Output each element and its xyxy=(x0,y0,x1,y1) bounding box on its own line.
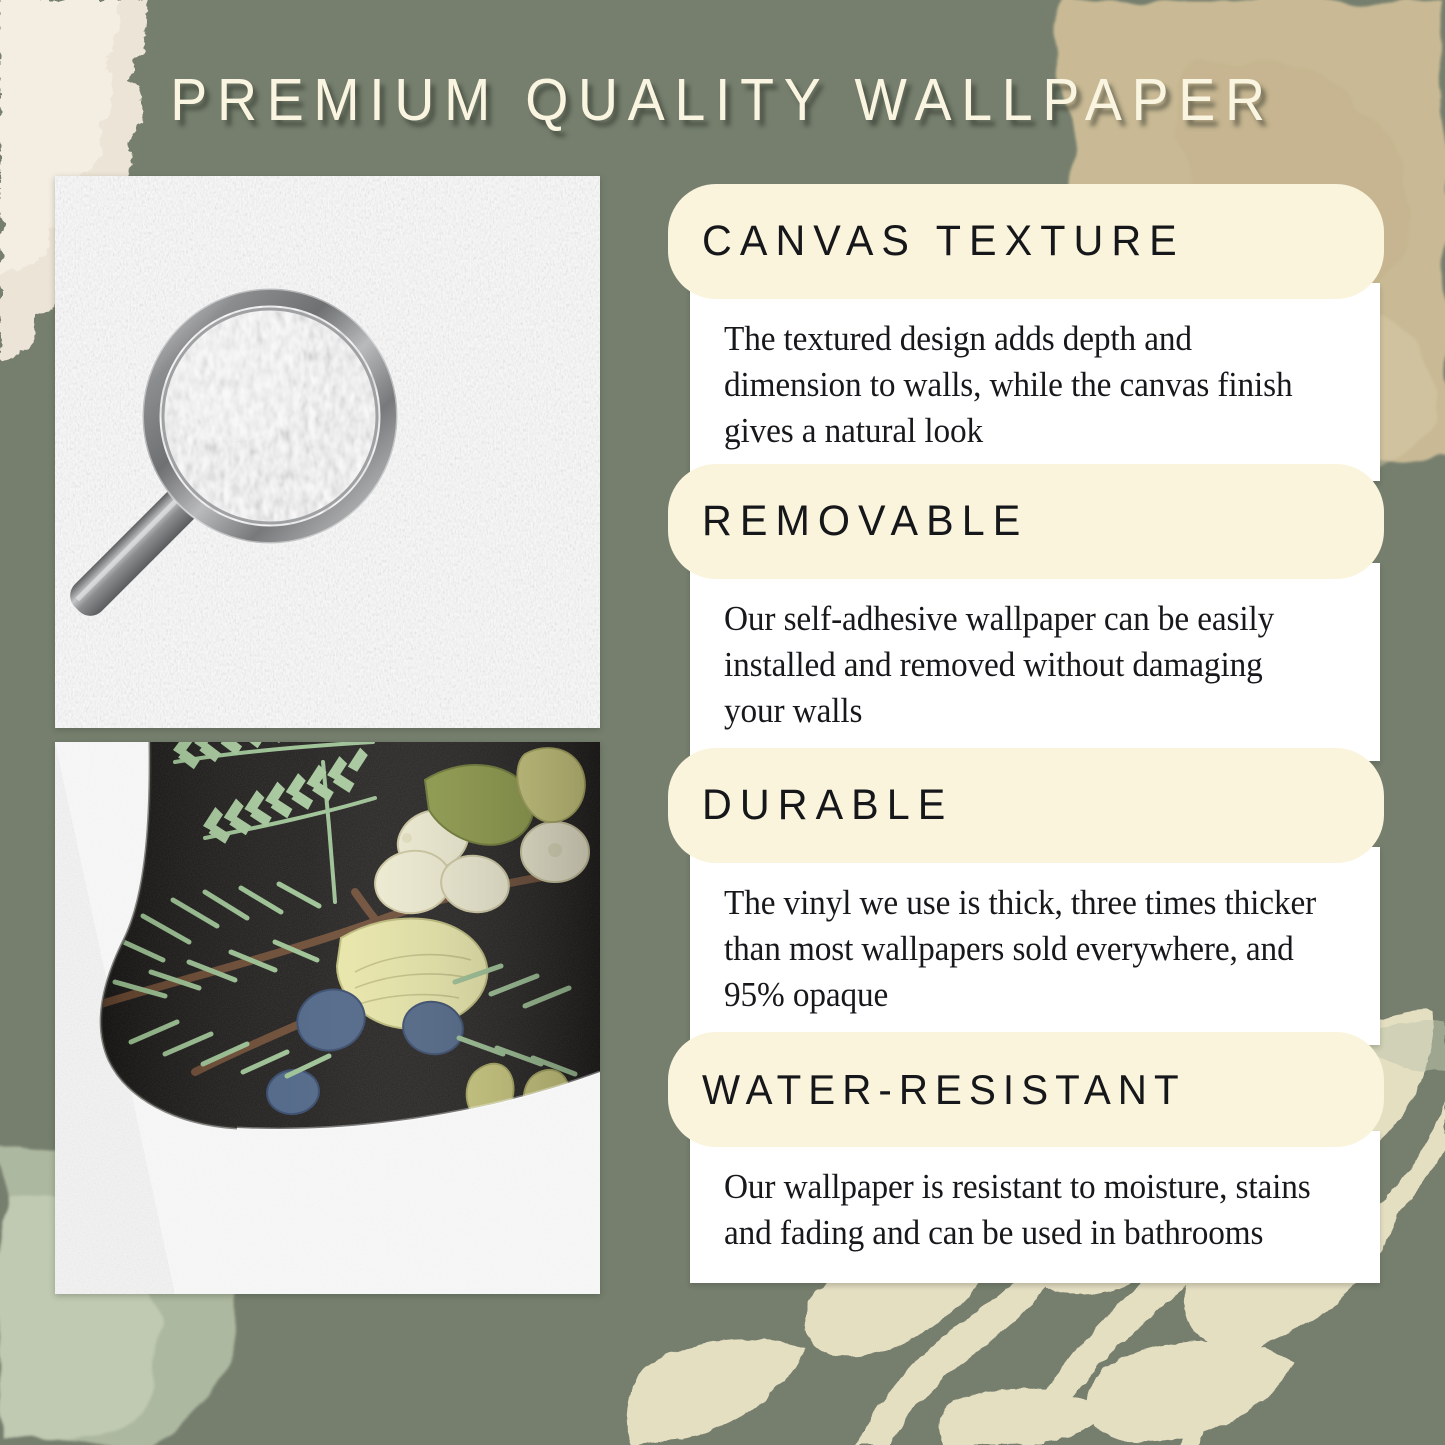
page-title: PREMIUM QUALITY WALLPAPER xyxy=(170,66,1275,134)
feature-card-title: WATER-RESISTANT xyxy=(702,1066,1186,1114)
feature-card-water-resistant: WATER-RESISTANT Our wallpaper is resista… xyxy=(668,1032,1384,1283)
feature-card-body: The vinyl we use is thick, three times t… xyxy=(690,847,1380,1045)
feature-card-description: The vinyl we use is thick, three times t… xyxy=(724,881,1328,1019)
feature-card-description: Our wallpaper is resistant to moisture, … xyxy=(724,1165,1328,1257)
feature-card-description: The textured design adds depth and dimen… xyxy=(724,317,1328,455)
wallpaper-roll-photo xyxy=(55,742,600,1294)
feature-card-title: CANVAS TEXTURE xyxy=(702,217,1185,266)
feature-card-title: DURABLE xyxy=(702,781,953,830)
feature-card-body: Our self-adhesive wallpaper can be easil… xyxy=(690,563,1380,761)
page-title-bar: PREMIUM QUALITY WALLPAPER xyxy=(0,58,1445,142)
feature-card-body: Our wallpaper is resistant to moisture, … xyxy=(690,1131,1380,1283)
canvas-texture-photo xyxy=(55,176,600,728)
feature-card-canvas-texture: CANVAS TEXTURE The textured design adds … xyxy=(668,184,1384,481)
feature-card-header: CANVAS TEXTURE xyxy=(668,184,1384,299)
feature-card-header: WATER-RESISTANT xyxy=(668,1032,1384,1147)
feature-card-title: REMOVABLE xyxy=(702,497,1028,546)
feature-card-body: The textured design adds depth and dimen… xyxy=(690,283,1380,481)
feature-card-description: Our self-adhesive wallpaper can be easil… xyxy=(724,597,1328,735)
feature-card-removable: REMOVABLE Our self-adhesive wallpaper ca… xyxy=(668,464,1384,761)
feature-card-durable: DURABLE The vinyl we use is thick, three… xyxy=(668,748,1384,1045)
feature-card-header: REMOVABLE xyxy=(668,464,1384,579)
feature-card-header: DURABLE xyxy=(668,748,1384,863)
